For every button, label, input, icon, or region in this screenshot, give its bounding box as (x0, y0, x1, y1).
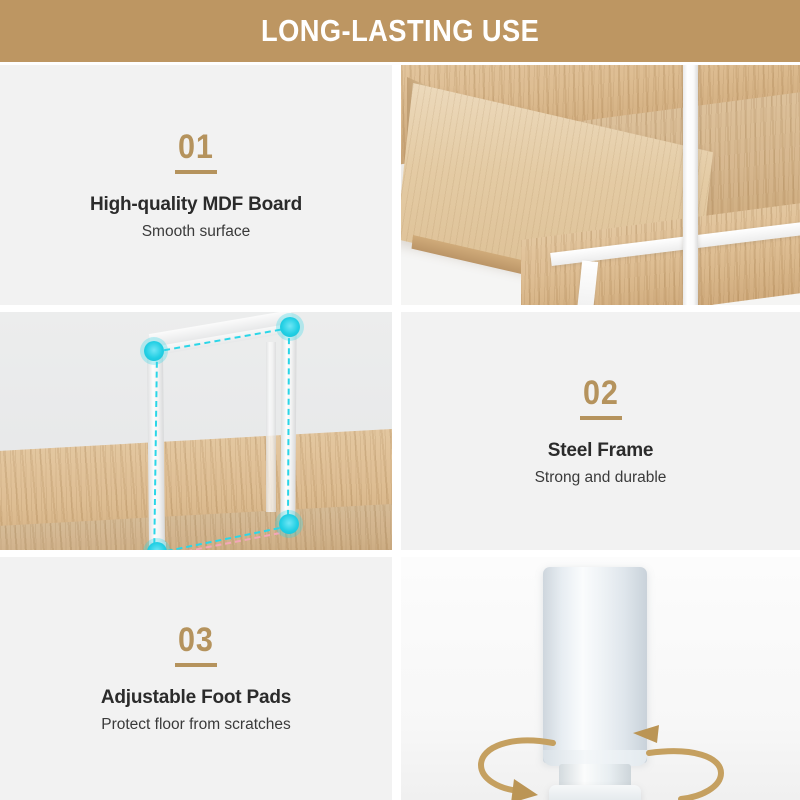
feature-underline-03 (175, 663, 217, 667)
frame-corner-marker-bottom-right (279, 514, 299, 534)
feature-underline-02 (580, 416, 622, 420)
feature-panel-03: 03 Adjustable Foot Pads Protect floor fr… (0, 557, 392, 800)
feature-number-02: 02 (583, 376, 619, 410)
page-title: LONG-LASTING USE (261, 13, 539, 49)
feature-subtitle-02: Strong and durable (535, 469, 667, 487)
frame-post-right-inner (266, 342, 276, 512)
feature-underline-01 (175, 170, 217, 174)
feature-number-01: 01 (178, 130, 214, 164)
feature-subtitle-03: Protect floor from scratches (101, 716, 291, 734)
rotation-arrow-right-head (633, 725, 659, 743)
footpad-photo-canvas (401, 557, 800, 800)
rotation-arrows (401, 557, 800, 800)
frame-photo-canvas (0, 312, 392, 550)
rotation-arrow-right-arc (649, 751, 721, 799)
photo-shelf-closeup (401, 65, 800, 305)
feature-title-03: Adjustable Foot Pads (101, 687, 291, 709)
frame-corner-marker-top-left (144, 341, 164, 361)
shelf-photo-canvas (401, 65, 800, 305)
feature-number-03: 03 (178, 623, 214, 657)
feature-subtitle-01: Smooth surface (142, 223, 251, 241)
photo-steel-frame-diagram (0, 312, 392, 550)
photo-foot-pad-closeup (401, 557, 800, 800)
feature-grid: 01 High-quality MDF Board Smooth surface (0, 65, 800, 800)
feature-title-02: Steel Frame (548, 440, 654, 462)
frame-corner-marker-top-right (280, 317, 300, 337)
header-banner: LONG-LASTING USE (0, 0, 800, 62)
feature-panel-01: 01 High-quality MDF Board Smooth surface (0, 65, 392, 305)
rotation-arrow-left-head (511, 779, 538, 800)
feature-title-01: High-quality MDF Board (90, 194, 302, 216)
feature-panel-02: 02 Steel Frame Strong and durable (401, 312, 800, 550)
steel-post-vertical (683, 65, 698, 305)
